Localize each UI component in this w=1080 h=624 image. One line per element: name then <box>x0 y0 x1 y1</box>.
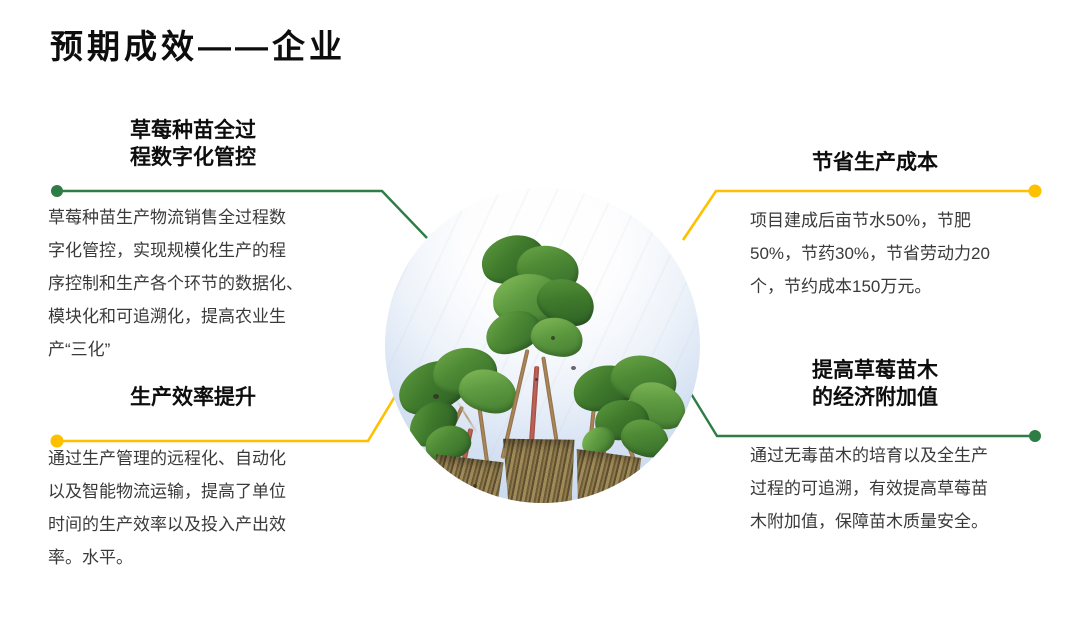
block-bottom-right: 提高草莓苗木 的经济附加值 通过无毒苗木的培育以及全生产 过程的可追溯，有效提高… <box>712 358 1032 538</box>
block-bottom-left-heading: 生产效率提升 <box>48 385 378 412</box>
block-top-left-body: 草莓种苗生产物流销售全过程数 字化管控，实现规模化生产的程 序控制和生产各个环节… <box>48 201 378 367</box>
slide-canvas: 预期成效——企业 <box>0 0 1080 624</box>
block-top-right: 节省生产成本 项目建成后亩节水50%，节肥 50%，节药30%，节省劳动力20 … <box>712 150 1032 303</box>
page-title: 预期成效——企业 <box>50 20 346 68</box>
block-top-left: 草莓种苗全过 程数字化管控 草莓种苗生产物流销售全过程数 字化管控，实现规模化生… <box>48 118 378 366</box>
block-bottom-left: 生产效率提升 通过生产管理的远程化、自动化 以及智能物流运输，提高了单位 时间的… <box>48 385 378 574</box>
block-bottom-right-body: 通过无毒苗木的培育以及全生产 过程的可追溯，有效提高草莓苗 木附加值，保障苗木质… <box>750 439 1032 538</box>
block-top-right-body: 项目建成后亩节水50%，节肥 50%，节药30%，节省劳动力20 个，节约成本1… <box>750 204 1032 303</box>
block-bottom-right-heading: 提高草莓苗木 的经济附加值 <box>712 358 1032 412</box>
center-photo-circle <box>385 188 700 503</box>
block-top-right-heading: 节省生产成本 <box>712 150 1032 177</box>
block-top-left-heading: 草莓种苗全过 程数字化管控 <box>48 118 378 172</box>
block-bottom-left-body: 通过生产管理的远程化、自动化 以及智能物流运输，提高了单位 时间的生产效率以及投… <box>48 442 378 575</box>
